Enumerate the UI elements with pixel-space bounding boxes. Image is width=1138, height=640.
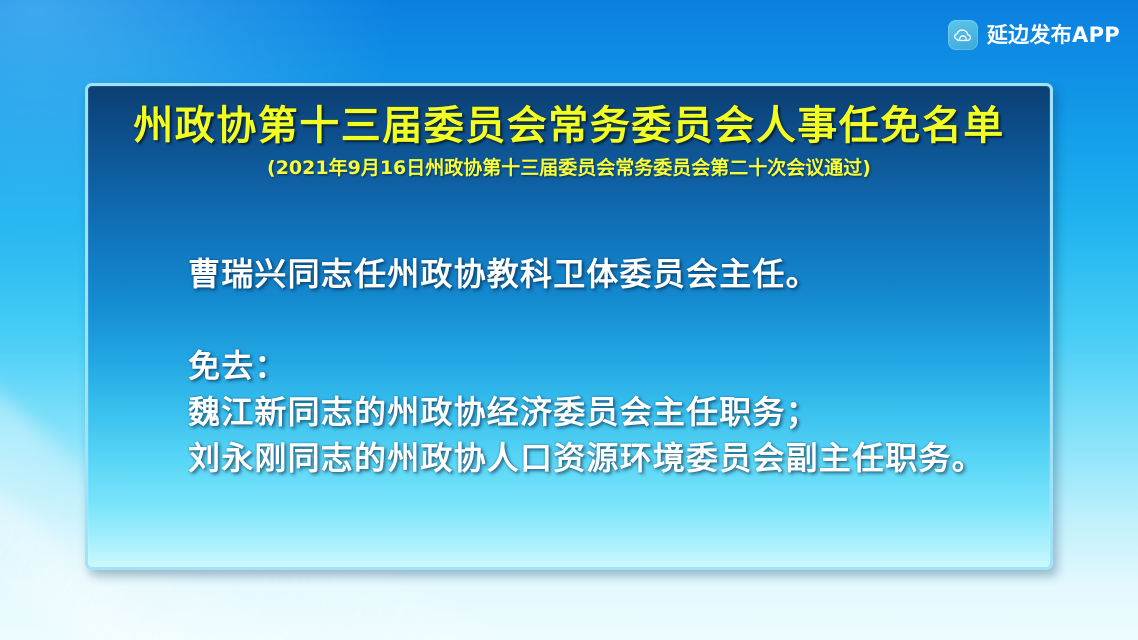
content-panel: 州政协第十三届委员会常务委员会人事任免名单 (2021年9月16日州政协第十三届… [85, 83, 1053, 570]
cloud-arch-icon [948, 20, 978, 50]
body-line: 魏江新同志的州政协经济委员会主任职务； [188, 389, 1010, 435]
page-subtitle: (2021年9月16日州政协第十三届委员会常务委员会第二十次会议通过) [88, 157, 1050, 180]
panel-header: 州政协第十三届委员会常务委员会人事任免名单 (2021年9月16日州政协第十三届… [88, 104, 1050, 179]
document-body: 曹瑞兴同志任州政协教科卫体委员会主任。 免去： 魏江新同志的州政协经济委员会主任… [188, 251, 1010, 481]
body-line: 曹瑞兴同志任州政协教科卫体委员会主任。 [188, 251, 1010, 297]
app-name-label: 延边发布APP [987, 25, 1120, 46]
page-title: 州政协第十三届委员会常务委员会人事任免名单 [88, 104, 1050, 150]
body-line: 免去： [188, 343, 1010, 389]
broadcast-slide: 延边发布APP 州政协第十三届委员会常务委员会人事任免名单 (2021年9月16… [0, 0, 1138, 640]
body-line: 刘永刚同志的州政协人口资源环境委员会副主任职务。 [188, 435, 1010, 481]
body-line-blank [188, 297, 1010, 343]
app-watermark: 延边发布APP [948, 20, 1120, 50]
